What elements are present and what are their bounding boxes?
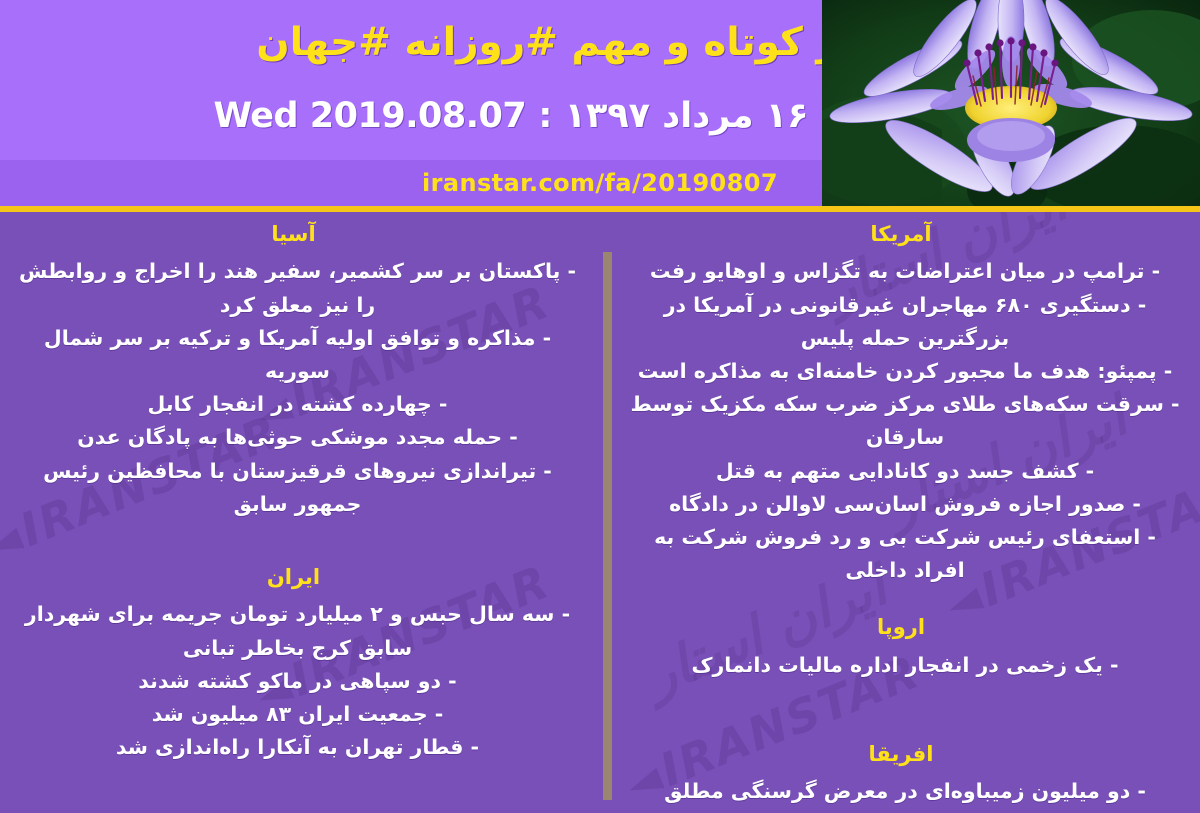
section-heading: اروپا — [620, 613, 1190, 642]
news-list: - یک زخمی در انفجار اداره مالیات دانمارک — [620, 649, 1190, 682]
section-heading: ایران — [10, 563, 585, 592]
publication-date-gregorian: Wed 2019.08.07 — [213, 96, 526, 136]
news-item[interactable]: - پاکستان بر سر کشمیر، سفیر هند را اخراج… — [10, 255, 585, 321]
news-item[interactable]: - سرقت سکه‌های طلای مرکز ضرب سکه مکزیک ت… — [620, 388, 1190, 454]
news-item[interactable]: - مذاکره و توافق اولیه آمریکا و ترکیه بر… — [10, 322, 585, 388]
news-list: - ترامپ در میان اعتراضات به تگزاس و اوها… — [620, 255, 1190, 587]
news-item[interactable]: - دو سپاهی در ماکو کشته شدند — [10, 665, 585, 698]
news-item[interactable]: - سه سال حبس و ۲ میلیارد تومان جریمه برا… — [10, 598, 585, 664]
news-item[interactable]: - ترامپ در میان اعتراضات به تگزاس و اوها… — [620, 255, 1190, 288]
news-item[interactable]: - پمپئو: هدف ما مجبور کردن خامنه‌ای به م… — [620, 355, 1190, 388]
news-item[interactable]: - دستگیری ۶۸۰ مهاجران غیرقانونی در آمریک… — [620, 289, 1190, 355]
news-item[interactable]: - دو میلیون زمیباوه‌ای در معرض گرسنگی مط… — [620, 775, 1190, 808]
news-list: - دو میلیون زمیباوه‌ای در معرض گرسنگی مط… — [620, 775, 1190, 808]
news-item[interactable]: - جمعیت ایران ۸۳ میلیون شد — [10, 698, 585, 731]
section-heading: افریقا — [620, 740, 1190, 769]
water-lily-illustration — [822, 0, 1200, 206]
section-heading: آمریکا — [620, 220, 1190, 249]
section-americas: آمریکا - ترامپ در میان اعتراضات به تگزاس… — [620, 220, 1190, 587]
news-item[interactable]: - صدور اجازه فروش اسان‌سی لاوالن در دادگ… — [620, 488, 1190, 521]
section-europe: اروپا - یک زخمی در انفجار اداره مالیات د… — [620, 613, 1190, 682]
news-item[interactable]: - یک زخمی در انفجار اداره مالیات دانمارک — [620, 649, 1190, 682]
news-list: - پاکستان بر سر کشمیر، سفیر هند را اخراج… — [10, 255, 585, 521]
news-list: - سه سال حبس و ۲ میلیارد تومان جریمه برا… — [10, 598, 585, 764]
section-africa: افریقا - دو میلیون زمیباوه‌ای در معرض گر… — [620, 740, 1190, 809]
news-item[interactable]: - استعفای رئیس شرکت بی و رد فروش شرکت به… — [620, 521, 1190, 587]
news-item[interactable]: - قطار تهران به آنکارا راه‌اندازی شد — [10, 731, 585, 764]
news-content: آمریکا - ترامپ در میان اعتراضات به تگزاس… — [0, 212, 1200, 800]
column-left: آسیا - پاکستان بر سر کشمیر، سفیر هند را … — [10, 212, 585, 768]
news-item[interactable]: - کشف جسد دو کانادایی متهم به قتل — [620, 455, 1190, 488]
news-item[interactable]: - حمله مجدد موشکی حوثی‌ها به پادگان عدن — [10, 421, 585, 454]
column-divider — [603, 252, 612, 800]
news-item[interactable]: - تیراندازی نیروهای قرقیزستان با محافظین… — [10, 455, 585, 521]
section-iran: ایران - سه سال حبس و ۲ میلیارد تومان جری… — [10, 563, 585, 764]
section-heading: آسیا — [10, 220, 585, 249]
column-right: آمریکا - ترامپ در میان اعتراضات به تگزاس… — [620, 212, 1190, 813]
section-asia: آسیا - پاکستان بر سر کشمیر، سفیر هند را … — [10, 220, 585, 521]
news-item[interactable]: - چهارده کشته در انفجار کابل — [10, 388, 585, 421]
water-lily-photo — [822, 0, 1200, 206]
